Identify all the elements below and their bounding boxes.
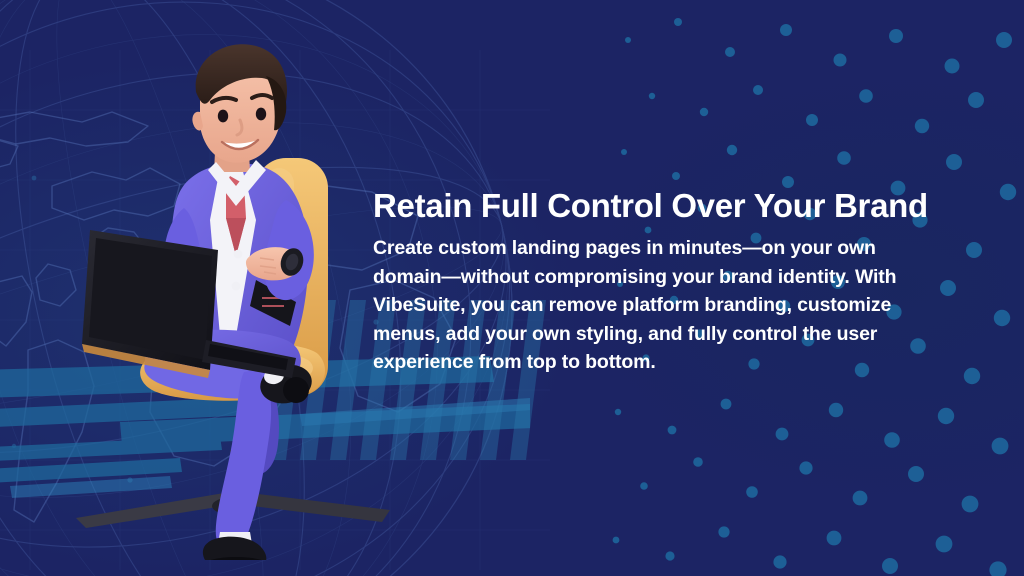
shoe [202,537,270,560]
body-paragraph: Create custom landing pages in minutes—o… [373,234,933,377]
page-title: Retain Full Control Over Your Brand [373,186,963,226]
text-block: Retain Full Control Over Your Brand Crea… [373,186,963,377]
slide-canvas: Retain Full Control Over Your Brand Crea… [0,0,1024,576]
businessman-illustration [60,40,420,560]
